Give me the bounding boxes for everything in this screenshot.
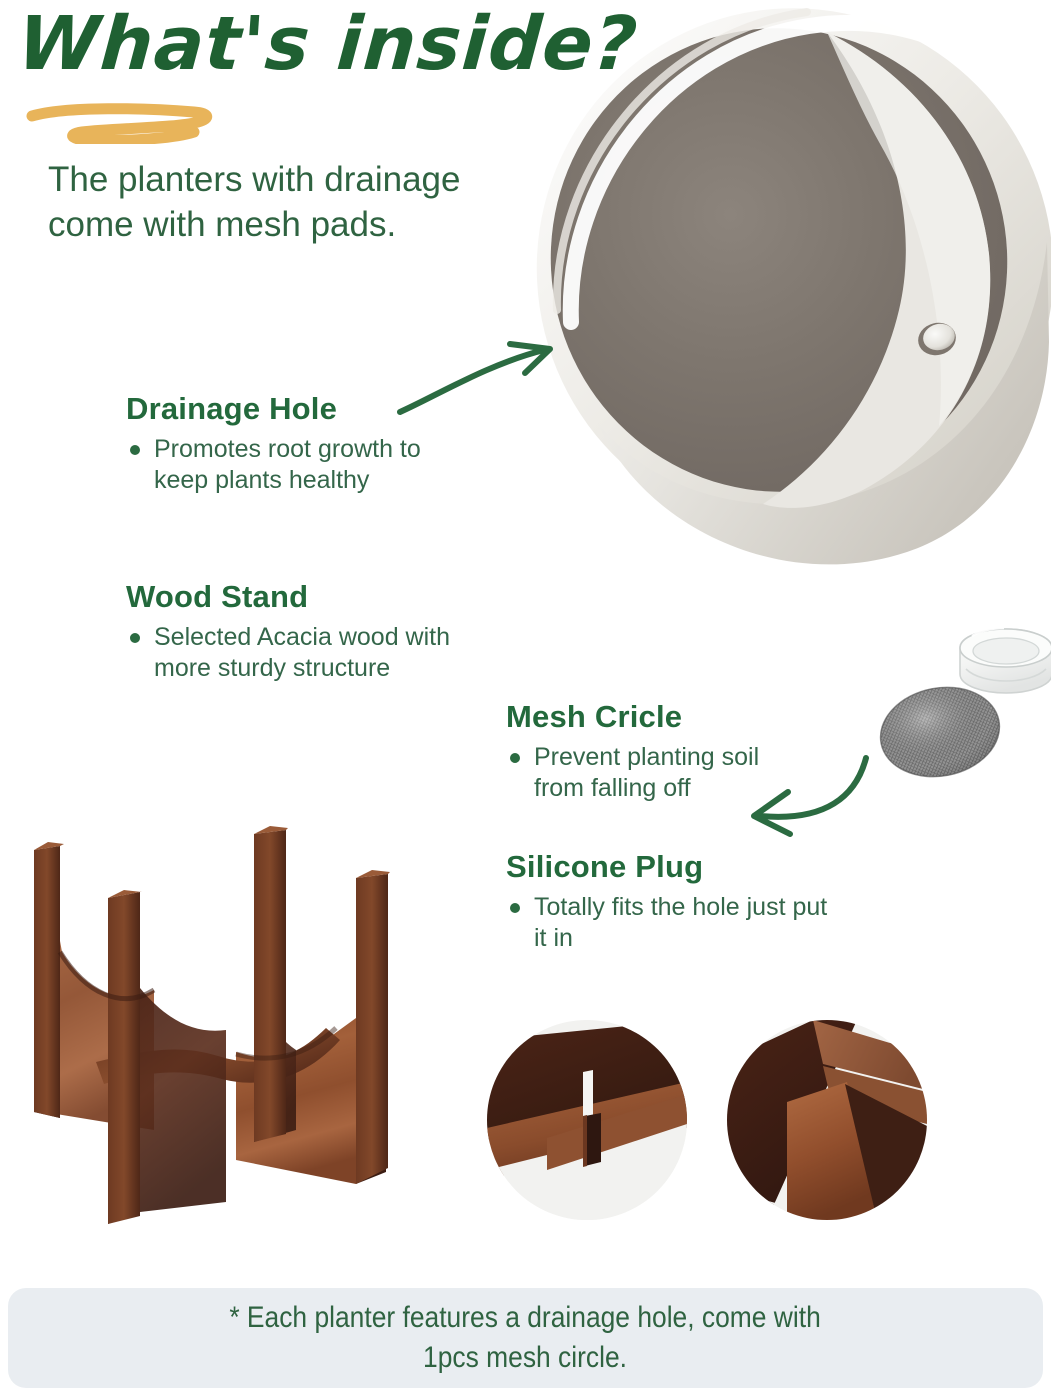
feature-title: Drainage Hole xyxy=(126,392,456,426)
list-item-text: Promotes root growth to keep plants heal… xyxy=(154,435,421,494)
feature-bullet-list: Prevent planting soil from falling off xyxy=(506,742,806,805)
detail-photo-slot-joint xyxy=(487,1020,687,1220)
list-item-text: Totally fits the hole just put it in xyxy=(534,893,827,952)
title-block: What's inside? The planters with drainag… xyxy=(18,6,558,84)
feature-title: Silicone Plug xyxy=(506,850,836,884)
detail-photo-cross-joint xyxy=(727,1020,927,1220)
footer-note-text: * Each planter features a drainage hole,… xyxy=(230,1298,821,1377)
list-item: Selected Acacia wood with more sturdy st… xyxy=(126,622,466,685)
list-item: Totally fits the hole just put it in xyxy=(506,892,836,955)
silicone-plug-item xyxy=(960,628,1051,693)
feature-title: Mesh Cricle xyxy=(506,700,806,734)
wood-stand-photo xyxy=(4,812,428,1230)
list-item: Promotes root growth to keep plants heal… xyxy=(126,434,456,497)
bullet-icon xyxy=(510,903,520,913)
bullet-icon xyxy=(510,753,520,763)
footer-note-panel: * Each planter features a drainage hole,… xyxy=(8,1288,1043,1388)
mesh-and-plug-photo xyxy=(862,612,1051,782)
leg-top-caps xyxy=(34,826,390,898)
feature-drainage-hole: Drainage Hole Promotes root growth to ke… xyxy=(126,392,456,497)
bullet-icon xyxy=(130,445,140,455)
feature-silicone-plug: Silicone Plug Totally fits the hole just… xyxy=(506,850,836,955)
title-underline-swash xyxy=(26,98,236,144)
page-subtitle: The planters with drainage come with mes… xyxy=(48,158,538,248)
feature-bullet-list: Selected Acacia wood with more sturdy st… xyxy=(126,622,466,685)
feature-title: Wood Stand xyxy=(126,580,466,614)
feature-wood-stand: Wood Stand Selected Acacia wood with mor… xyxy=(126,580,466,685)
mesh-circle-item xyxy=(873,677,1008,782)
feature-bullet-list: Promotes root growth to keep plants heal… xyxy=(126,434,456,497)
list-item-text: Selected Acacia wood with more sturdy st… xyxy=(154,623,450,682)
list-item-text: Prevent planting soil from falling off xyxy=(534,743,759,802)
feature-bullet-list: Totally fits the hole just put it in xyxy=(506,892,836,955)
list-item: Prevent planting soil from falling off xyxy=(506,742,806,805)
infographic-page: What's inside? The planters with drainag… xyxy=(0,0,1051,1395)
page-title: What's inside? xyxy=(15,6,560,84)
planter-photo xyxy=(527,0,1051,612)
bullet-icon xyxy=(130,633,140,643)
feature-mesh-circle: Mesh Cricle Prevent planting soil from f… xyxy=(506,700,806,805)
